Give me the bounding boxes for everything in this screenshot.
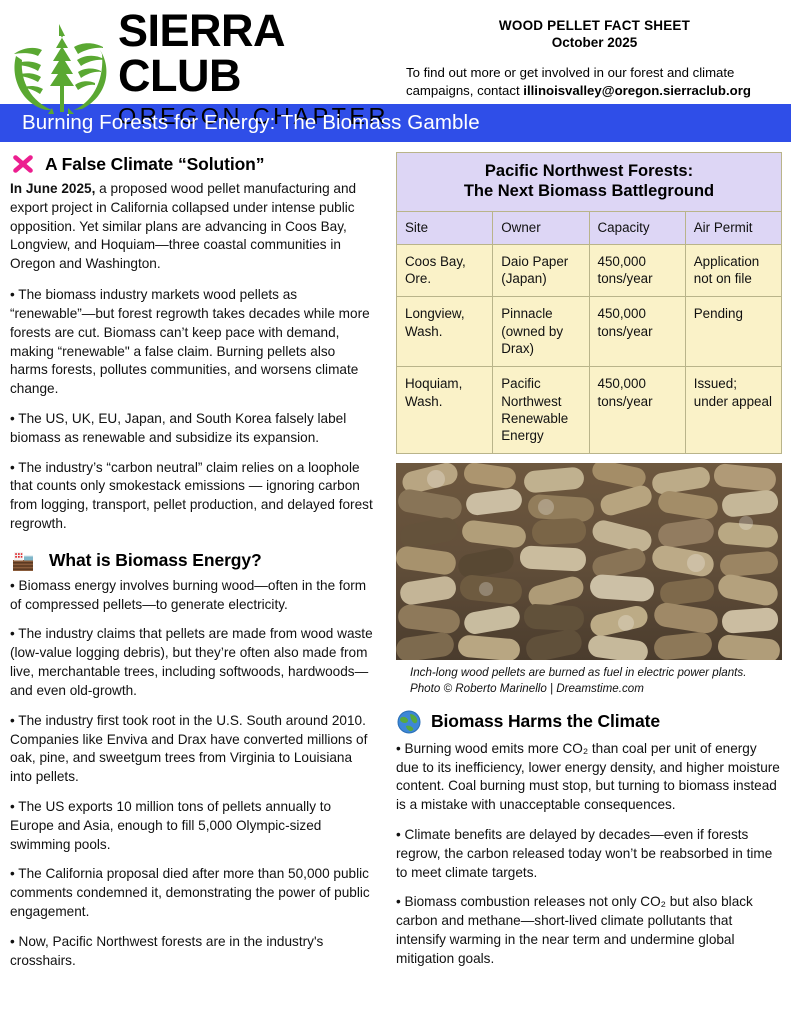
wood-pellets-photo (396, 463, 782, 660)
section-header-what-is-biomass: What is Biomass Energy? (10, 548, 376, 574)
earth-globe-icon (396, 709, 422, 735)
left-column: A False Climate “Solution” In June 2025,… (0, 142, 390, 1008)
fact-sheet-date: October 2025 (406, 35, 783, 50)
table-row: Longview, Wash. Pinnacle (owned by Drax)… (397, 297, 782, 367)
sierra-club-tree-logo-icon (8, 20, 114, 116)
pnw-forests-table: Pacific Northwest Forests: The Next Biom… (396, 152, 782, 454)
page-header: SIERRA CLUB OREGON CHAPTER WOOD PELLET F… (0, 0, 791, 104)
header-info-block: WOOD PELLET FACT SHEET October 2025 To f… (398, 8, 783, 99)
cell-owner: Pacific Northwest Renewable Energy (493, 367, 589, 454)
table-title-row: Pacific Northwest Forests: The Next Biom… (397, 153, 782, 212)
table-title-cell: Pacific Northwest Forests: The Next Biom… (397, 153, 782, 212)
bullet-paragraph: • The biomass industry markets wood pell… (10, 286, 376, 399)
bullet-paragraph: • The California proposal died after mor… (10, 865, 376, 921)
table-row: Hoquiam, Wash. Pacific Northwest Renewab… (397, 367, 782, 454)
bullet-paragraph: • The US, UK, EU, Japan, and South Korea… (10, 410, 376, 448)
column-header-capacity: Capacity (589, 211, 685, 244)
bullet-paragraph: • Biomass energy involves burning wood—o… (10, 577, 376, 615)
section-title: What is Biomass Energy? (49, 550, 262, 571)
cell-capacity: 450,000 tons/year (589, 297, 685, 367)
photo-block: Inch-long wood pellets are burned as fue… (396, 463, 782, 696)
bullet-paragraph: • The industry’s “carbon neutral” claim … (10, 459, 376, 534)
page-body: A False Climate “Solution” In June 2025,… (0, 142, 791, 1008)
cell-site: Longview, Wash. (397, 297, 493, 367)
section-title: Biomass Harms the Climate (431, 711, 660, 732)
section-header-biomass-harms-climate: Biomass Harms the Climate (396, 709, 783, 735)
photo-caption-line2: Photo © Roberto Marinello | Dreamstime.c… (410, 681, 782, 697)
section-title: A False Climate “Solution” (45, 154, 264, 175)
bullet-paragraph: • Burning wood emits more CO₂ than coal … (396, 740, 783, 815)
fact-sheet-title: WOOD PELLET FACT SHEET (406, 18, 783, 33)
cell-air-permit: Application not on file (685, 244, 781, 297)
brand-name: SIERRA CLUB (118, 8, 398, 98)
cell-air-permit: Pending (685, 297, 781, 367)
bullet-paragraph: • The US exports 10 million tons of pell… (10, 798, 376, 854)
lead-bold-text: In June 2025, (10, 181, 95, 196)
table-row: Coos Bay, Ore. Daio Paper (Japan) 450,00… (397, 244, 782, 297)
right-column: Pacific Northwest Forests: The Next Biom… (390, 142, 791, 1008)
bullet-paragraph: • The industry first took root in the U.… (10, 712, 376, 787)
cell-air-permit: Issued; under appeal (685, 367, 781, 454)
table-title-line2: The Next Biomass Battleground (405, 181, 773, 201)
photo-caption-line1: Inch-long wood pellets are burned as fue… (410, 665, 782, 681)
bullet-paragraph: • Climate benefits are delayed by decade… (396, 826, 783, 882)
cell-owner: Daio Paper (Japan) (493, 244, 589, 297)
cell-owner: Pinnacle (owned by Drax) (493, 297, 589, 367)
table-body: Coos Bay, Ore. Daio Paper (Japan) 450,00… (397, 244, 782, 454)
cross-mark-icon (10, 151, 36, 177)
factory-icon (10, 548, 36, 574)
bullet-paragraph: • Now, Pacific Northwest forests are in … (10, 933, 376, 971)
cell-site: Coos Bay, Ore. (397, 244, 493, 297)
column-header-owner: Owner (493, 211, 589, 244)
table-title-line1: Pacific Northwest Forests: (405, 161, 773, 181)
cell-site: Hoquiam, Wash. (397, 367, 493, 454)
bullet-paragraph: • Biomass combustion releases not only C… (396, 893, 783, 968)
column-header-air-permit: Air Permit (685, 211, 781, 244)
lead-paragraph: In June 2025, a proposed wood pellet man… (10, 180, 376, 274)
cell-capacity: 450,000 tons/year (589, 367, 685, 454)
cell-capacity: 450,000 tons/year (589, 244, 685, 297)
contact-info: To find out more or get involved in our … (406, 64, 783, 99)
table-head: Pacific Northwest Forests: The Next Biom… (397, 153, 782, 245)
section-header-false-climate-solution: A False Climate “Solution” (10, 151, 376, 177)
column-header-site: Site (397, 211, 493, 244)
contact-email-link[interactable]: illinoisvalley@oregon.sierraclub.org (523, 83, 751, 98)
photo-caption: Inch-long wood pellets are burned as fue… (410, 665, 782, 696)
table-header-row: Site Owner Capacity Air Permit (397, 211, 782, 244)
bullet-paragraph: • The industry claims that pellets are m… (10, 625, 376, 700)
